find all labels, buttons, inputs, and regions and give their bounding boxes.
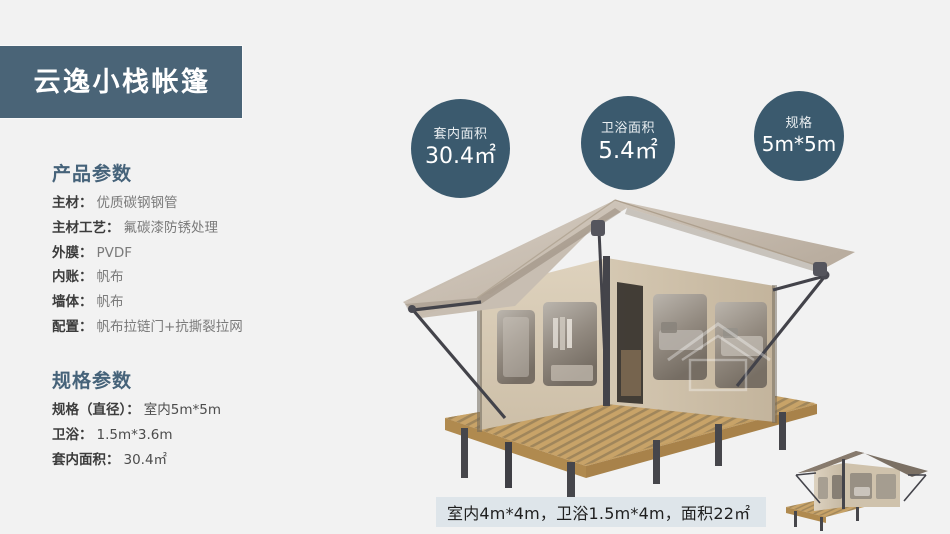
badge-dimensions: 规格 5m*5m	[754, 91, 844, 181]
spec-label: 外膜：	[52, 245, 93, 262]
title-banner: 云逸小栈帐篷	[0, 46, 242, 118]
size-params-block: 规格参数 规格（直径）： 室内5m*5m 卫浴： 1.5m*3.6m 套内面积：…	[52, 370, 221, 476]
badge-value: 5.4㎡	[598, 139, 658, 164]
page-title: 云逸小栈帐篷	[26, 69, 211, 96]
spec-label: 主材：	[52, 195, 93, 212]
spec-value: 帆布	[97, 269, 124, 286]
spec-row: 外膜： PVDF	[52, 245, 243, 262]
badge-bathroom-area: 卫浴面积 5.4㎡	[581, 96, 675, 190]
spec-label: 卫浴：	[52, 427, 93, 444]
spec-value: 30.4㎡	[124, 452, 168, 469]
spec-label: 规格（直径）：	[52, 402, 140, 419]
spec-label: 套内面积：	[52, 452, 120, 469]
spec-value: 室内5m*5m	[144, 402, 221, 419]
product-spec-page: 云逸小栈帐篷 产品参数 主材： 优质碳钢钢管 主材工艺： 氟碳漆防锈处理 外膜：…	[0, 0, 950, 534]
spec-row: 套内面积： 30.4㎡	[52, 452, 221, 469]
caption-text: 室内4m*4m，卫浴1.5m*4m，面积22㎡	[447, 500, 750, 524]
spec-row: 主材工艺： 氟碳漆防锈处理	[52, 220, 243, 237]
spec-value: 帆布	[97, 294, 124, 311]
caption-strip: 室内4m*4m，卫浴1.5m*4m，面积22㎡	[436, 497, 766, 527]
spec-value: 优质碳钢钢管	[97, 195, 178, 212]
spec-label: 主材工艺：	[52, 220, 120, 237]
spec-row: 配置： 帆布拉链门+抗撕裂拉网	[52, 319, 243, 336]
badge-caption: 规格	[785, 117, 812, 131]
spec-label: 墙体：	[52, 294, 93, 311]
spec-label: 内账：	[52, 269, 93, 286]
spec-row: 内账： 帆布	[52, 269, 243, 286]
product-params-block: 产品参数 主材： 优质碳钢钢管 主材工艺： 氟碳漆防锈处理 外膜： PVDF 内…	[52, 163, 243, 344]
tent-inset-illustration	[780, 445, 948, 531]
spec-row: 墙体： 帆布	[52, 294, 243, 311]
badge-value: 5m*5m	[762, 133, 836, 155]
spec-row: 卫浴： 1.5m*3.6m	[52, 427, 221, 444]
badge-caption: 套内面积	[433, 128, 487, 142]
size-params-heading: 规格参数	[52, 370, 221, 393]
spec-value: PVDF	[97, 245, 133, 262]
spec-label: 配置：	[52, 319, 93, 336]
badge-caption: 卫浴面积	[601, 122, 655, 136]
spec-row: 主材： 优质碳钢钢管	[52, 195, 243, 212]
badge-value: 30.4㎡	[425, 145, 496, 169]
spec-value: 1.5m*3.6m	[97, 427, 173, 444]
spec-value: 帆布拉链门+抗撕裂拉网	[97, 319, 243, 336]
product-params-heading: 产品参数	[52, 163, 243, 186]
spec-value: 氟碳漆防锈处理	[124, 220, 219, 237]
badge-interior-area: 套内面积 30.4㎡	[411, 99, 510, 198]
spec-row: 规格（直径）： 室内5m*5m	[52, 402, 221, 419]
